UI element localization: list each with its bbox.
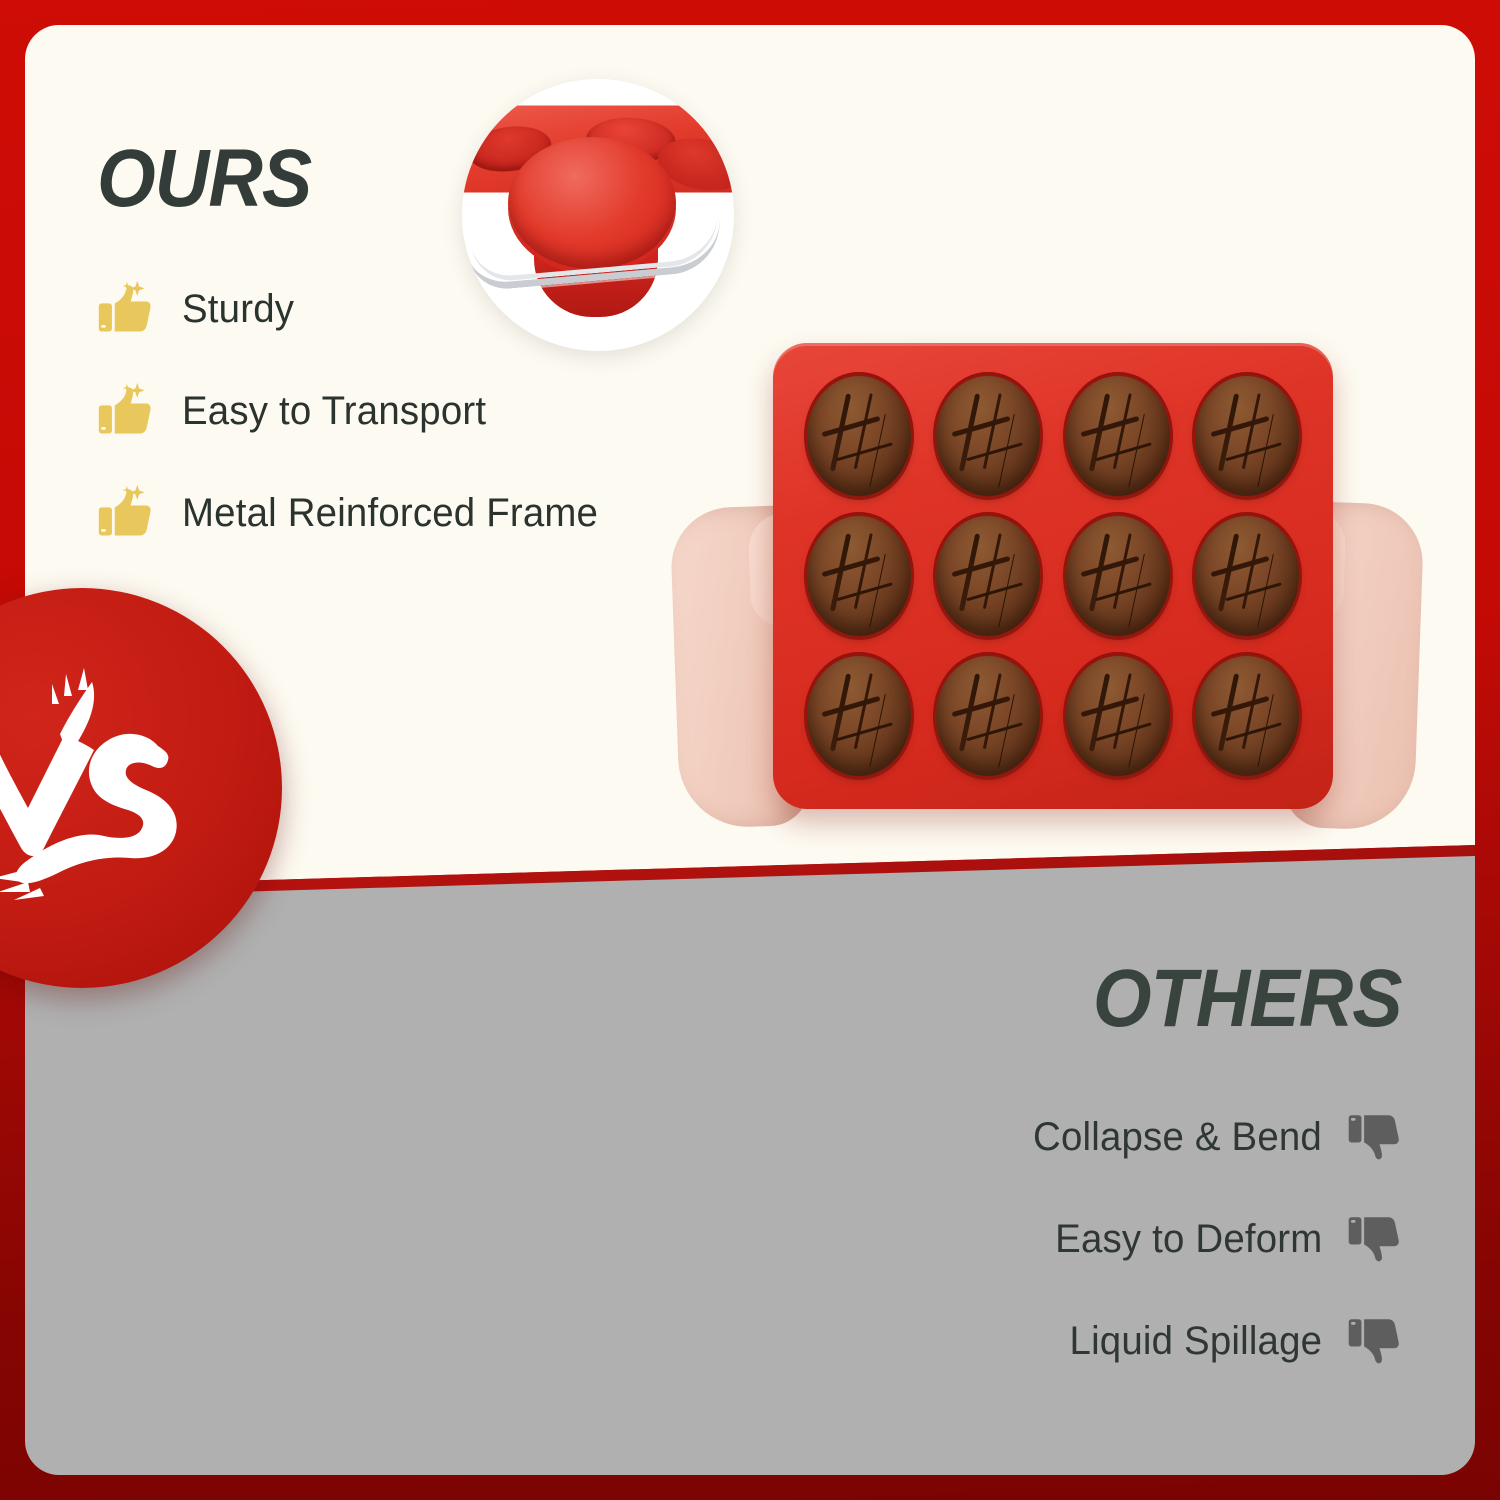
others-drawback-item: Collapse & Bend bbox=[1021, 1108, 1404, 1166]
others-drawback-label: Easy to Deform bbox=[1055, 1217, 1322, 1262]
ours-feature-label: Metal Reinforced Frame bbox=[182, 491, 598, 536]
others-drawback-label: Collapse & Bend bbox=[1033, 1115, 1322, 1160]
others-drawback-item: Easy to Deform bbox=[1044, 1210, 1404, 1268]
ours-feature-item: Sturdy bbox=[96, 278, 615, 340]
thumbs-down-icon bbox=[1346, 1210, 1404, 1268]
ours-feature-item: Metal Reinforced Frame bbox=[96, 482, 615, 544]
muffin-cell bbox=[927, 509, 1051, 643]
thumbs-up-sparkle-icon bbox=[96, 483, 156, 543]
others-drawback-label: Liquid Spillage bbox=[1069, 1319, 1322, 1364]
muffin-cell bbox=[797, 509, 921, 643]
others-drawback-item: Liquid Spillage bbox=[1059, 1312, 1404, 1370]
thumbs-down-icon bbox=[1346, 1108, 1404, 1166]
ours-heading: OURS bbox=[97, 138, 311, 220]
thumbs-up-sparkle-icon bbox=[96, 279, 156, 339]
chocolate-muffin bbox=[1066, 376, 1170, 496]
muffin-cell bbox=[1056, 369, 1180, 503]
chocolate-muffin bbox=[807, 376, 911, 496]
ours-product-image bbox=[665, 325, 1425, 885]
chocolate-muffin bbox=[936, 656, 1040, 776]
muffin-cell bbox=[1186, 509, 1310, 643]
chocolate-muffin bbox=[1066, 656, 1170, 776]
ours-feature-item: Easy to Transport bbox=[96, 380, 615, 442]
chocolate-muffin bbox=[1195, 656, 1299, 776]
metal-reinforce-wire-highlight bbox=[470, 210, 722, 283]
others-heading: OTHERS bbox=[1093, 958, 1402, 1040]
ours-feature-list: Sturdy Easy to Transport Metal Reinforce… bbox=[96, 278, 615, 544]
vs-brushstroke-icon bbox=[0, 638, 232, 938]
thumbs-down-icon bbox=[1346, 1312, 1404, 1370]
red-silicone-muffin-pan bbox=[773, 343, 1333, 809]
others-drawback-list: Collapse & Bend Easy to Deform Liquid Sp… bbox=[1021, 1108, 1404, 1370]
chocolate-muffin bbox=[936, 516, 1040, 636]
muffin-cell bbox=[1056, 649, 1180, 783]
chocolate-muffin bbox=[807, 656, 911, 776]
muffin-cell bbox=[797, 649, 921, 783]
chocolate-muffin bbox=[1195, 376, 1299, 496]
thumbs-up-sparkle-icon bbox=[96, 381, 156, 441]
ours-feature-label: Sturdy bbox=[182, 287, 294, 332]
muffin-cell bbox=[1186, 649, 1310, 783]
muffin-cell bbox=[1186, 369, 1310, 503]
chocolate-muffin bbox=[936, 376, 1040, 496]
chocolate-muffin bbox=[1195, 516, 1299, 636]
muffin-cell bbox=[927, 649, 1051, 783]
muffin-cell bbox=[927, 369, 1051, 503]
chocolate-muffin bbox=[807, 516, 911, 636]
chocolate-muffin bbox=[1066, 516, 1170, 636]
muffin-cell bbox=[1056, 509, 1180, 643]
ours-feature-label: Easy to Transport bbox=[182, 389, 486, 434]
muffin-cell bbox=[797, 369, 921, 503]
